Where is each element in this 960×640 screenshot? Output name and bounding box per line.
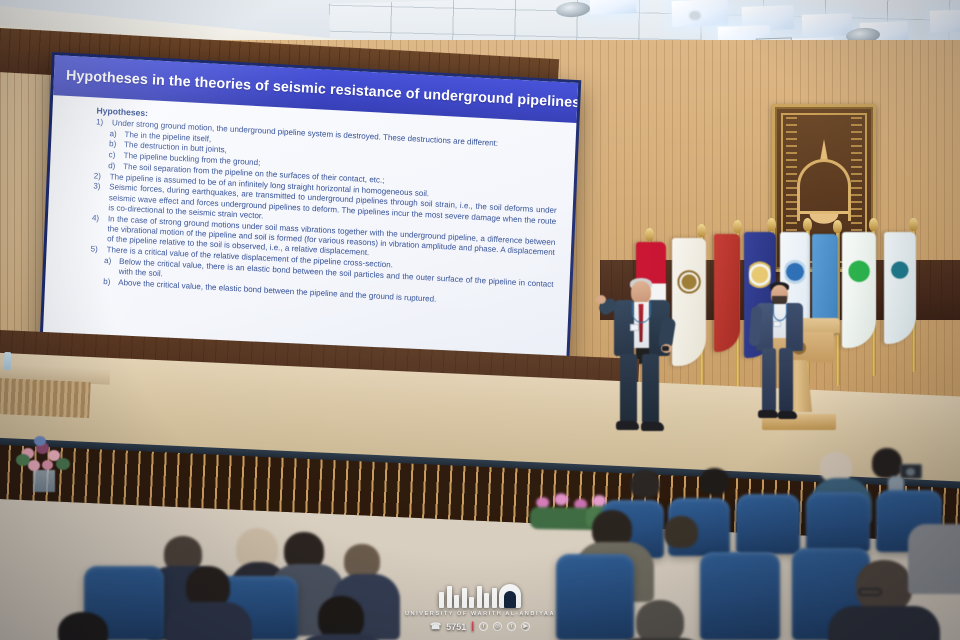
logo-bar <box>484 593 489 608</box>
smoke-detector-icon <box>690 12 700 19</box>
host-shoe-right <box>778 411 797 419</box>
presenter-leg-left <box>620 354 637 424</box>
logo-bar <box>469 597 474 608</box>
flag-green-logo <box>842 232 876 348</box>
flag-teal-u <box>884 232 916 344</box>
podium-host <box>748 282 828 430</box>
camera-lens-icon <box>906 468 915 476</box>
contact-row: ☎ 5751 | f ◎ t ▶ <box>430 621 530 632</box>
conference-photo-scene: و Hypotheses in the theories of seismic … <box>0 0 960 640</box>
audience-head <box>630 470 660 498</box>
presenter-shoe-left <box>616 421 639 430</box>
presenter-hand-left <box>596 295 606 304</box>
flag-finial-icon <box>833 220 842 233</box>
phone-icon: ☎ <box>430 621 441 632</box>
twitter-icon: t <box>507 622 516 631</box>
eyeglasses-icon <box>858 588 882 596</box>
sublist-marker: a) <box>103 256 115 277</box>
audience-head <box>636 600 684 640</box>
audience-head <box>700 468 729 495</box>
university-logo <box>439 582 521 608</box>
flag-emblem-icon <box>889 248 911 293</box>
host-leg-left <box>762 348 776 412</box>
sublist-marker: b) <box>103 277 114 288</box>
water-bottle <box>4 352 12 370</box>
phone-number: 5751 <box>446 622 466 632</box>
list-marker: 1) <box>96 117 108 128</box>
twitter-glyph: t <box>511 624 513 630</box>
audience-head <box>344 544 380 578</box>
audience-torso <box>828 606 940 640</box>
list-marker: 3) <box>92 182 105 214</box>
auditorium-seat <box>556 554 634 640</box>
presenter-badge <box>630 324 639 331</box>
flag-finial-icon <box>733 220 742 233</box>
youtube-glyph: ▶ <box>523 624 527 630</box>
presenter-head <box>631 281 651 304</box>
sublist-marker: c) <box>108 150 119 161</box>
flower <box>28 460 40 471</box>
flag-finial-icon <box>767 218 776 231</box>
logo-bar <box>439 592 444 608</box>
crest-icon: و <box>793 153 855 233</box>
facebook-icon: f <box>479 622 488 631</box>
host-jacket-right <box>786 303 803 351</box>
list-marker: 4) <box>91 213 104 245</box>
flag-red <box>714 234 740 352</box>
list-marker: 5) <box>90 244 102 255</box>
audience-head <box>856 560 912 612</box>
youtube-icon: ▶ <box>521 622 530 631</box>
foliage <box>34 436 46 446</box>
flag-finial-icon <box>645 228 654 241</box>
logo-bar <box>477 586 482 608</box>
side-table-legs <box>0 378 91 418</box>
instagram-glyph: ◎ <box>495 624 500 630</box>
host-shoe-left <box>758 410 778 418</box>
flower <box>554 493 568 505</box>
audience-torso <box>908 524 960 594</box>
logo-dome-icon <box>499 584 521 608</box>
logo-bar <box>454 595 459 608</box>
sublist-marker: a) <box>109 129 120 140</box>
logo-bar <box>447 586 452 608</box>
host-lanyard <box>773 304 787 321</box>
flag-finial-icon <box>869 218 878 231</box>
flag-finial-icon <box>803 218 812 231</box>
vase <box>33 470 55 492</box>
flag-finial-icon <box>909 218 918 231</box>
audience-head <box>664 516 698 548</box>
foliage <box>16 454 30 466</box>
crest-spire-icon <box>820 139 828 161</box>
presenter-leg-right <box>642 354 659 424</box>
separator: | <box>471 621 474 632</box>
auditorium-seat <box>700 552 780 640</box>
flag-finial-icon <box>697 224 706 237</box>
logo-bar <box>462 588 467 608</box>
university-name: UNIVERSITY OF WARITH AL-ANBIYAA <box>405 611 555 617</box>
list-marker: 2) <box>94 171 106 182</box>
flag-emblem-icon <box>847 248 871 294</box>
instagram-icon: ◎ <box>493 622 502 631</box>
host-badge <box>773 321 781 327</box>
ceiling-light-panel <box>930 9 960 33</box>
presenter <box>598 278 694 436</box>
audience-head <box>872 448 902 478</box>
presenter-lanyard <box>632 302 651 323</box>
foliage <box>56 458 70 470</box>
logo-bar <box>492 588 497 608</box>
flower <box>42 460 53 470</box>
ceiling-light-panel <box>672 0 729 27</box>
presenter-clicker <box>662 346 669 351</box>
auditorium-seat <box>736 494 800 554</box>
flower-bouquet <box>14 434 76 492</box>
sublist-marker: d) <box>108 161 119 172</box>
host-leg-right <box>779 348 793 412</box>
sublist-marker: b) <box>109 140 120 151</box>
presenter-shoe-right <box>641 422 664 431</box>
auditorium-seat <box>806 492 870 552</box>
facebook-glyph: f <box>483 624 485 630</box>
ceiling-light-panel <box>802 13 853 37</box>
ceiling-light-panel <box>590 0 637 15</box>
audience-torso <box>166 602 252 640</box>
